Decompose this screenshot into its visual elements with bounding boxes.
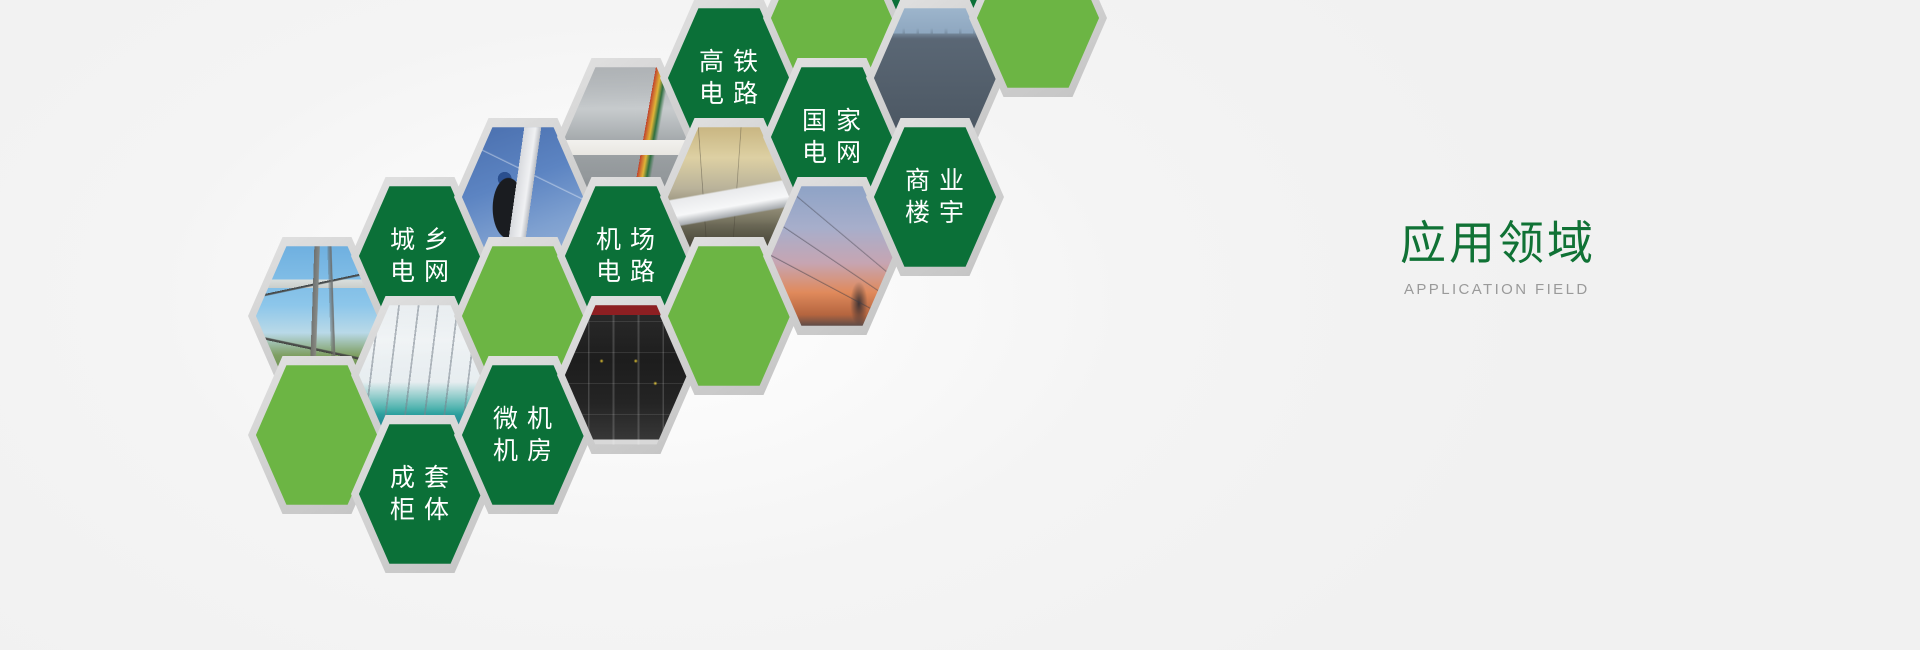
application-field-heading: 应用领域 APPLICATION FIELD	[1400, 218, 1820, 298]
hex-light-far-right[interactable]	[969, 0, 1107, 97]
hexagon-grid: 城 乡电 网成 套柜 体微 机机 房机 场电 路高 铁电 路国 家电 网住 宅电…	[0, 0, 1350, 650]
hex-label-shang-ye[interactable]: 商 业楼 宇	[866, 118, 1004, 276]
page-subtitle: APPLICATION FIELD	[1404, 281, 1820, 298]
page-title: 应用领域	[1400, 218, 1820, 269]
